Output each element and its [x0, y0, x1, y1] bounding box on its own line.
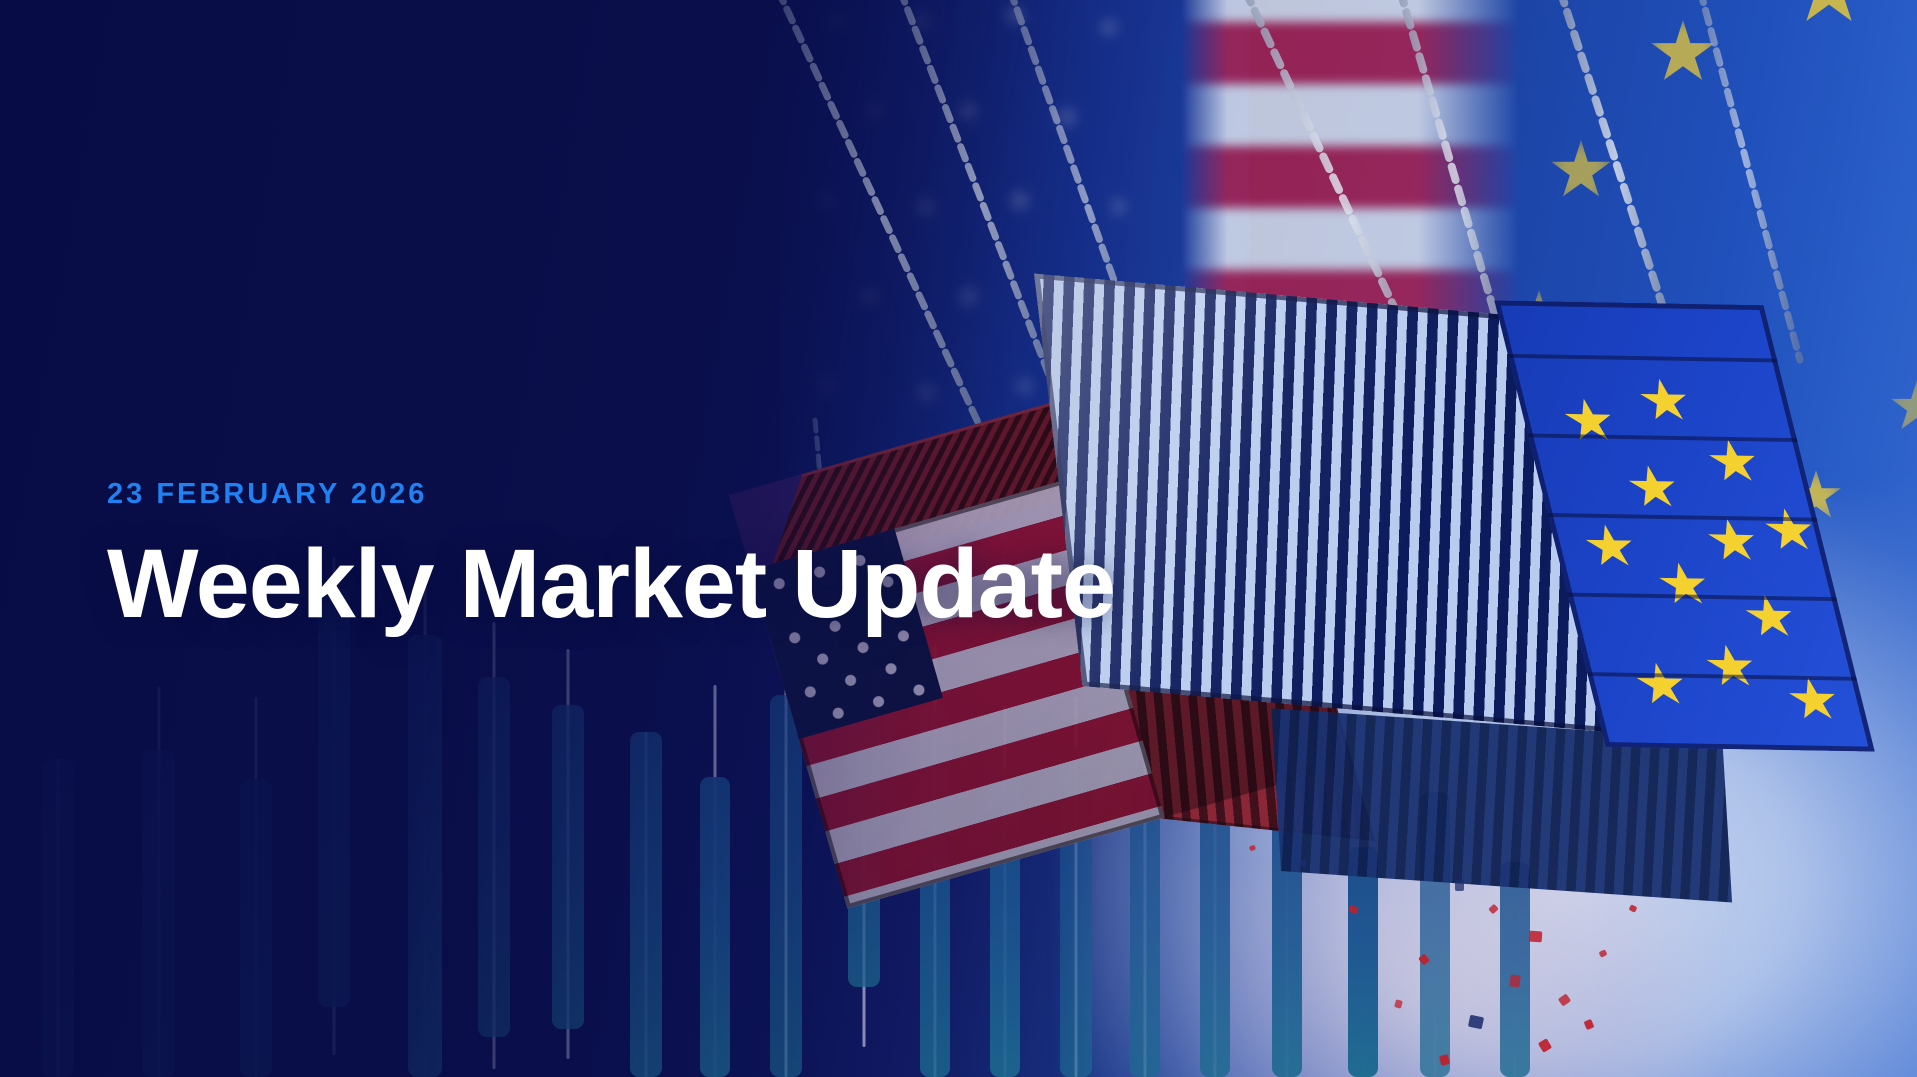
issue-date: 23 FEBRUARY 2026	[107, 480, 1115, 509]
eu-container-panel-line	[1567, 593, 1837, 602]
eu-container-star-icon	[1632, 662, 1691, 707]
eu-container-star-icon	[1581, 524, 1640, 569]
eu-container-star-icon	[1760, 508, 1819, 553]
eu-container-star-icon	[1635, 378, 1694, 423]
eu-container-panel-line	[1547, 513, 1817, 522]
debris-particle	[1468, 1015, 1484, 1030]
eu-container-panel-line	[1508, 354, 1778, 363]
eu-shipping-container	[1077, 278, 1882, 952]
debris-particle	[1455, 880, 1464, 891]
eu-container-star-icon	[1624, 465, 1683, 510]
weekly-market-update-banner: 23 FEBRUARY 2026 Weekly Market Update	[0, 0, 1917, 1077]
eu-container-star-icon	[1704, 439, 1763, 484]
eu-container-star-icon	[1654, 562, 1713, 607]
eu-container-star-icon	[1741, 595, 1800, 640]
eu-container-star-icon	[1703, 519, 1762, 564]
debris-particle	[1509, 974, 1521, 987]
page-title: Weekly Market Update	[107, 535, 1115, 632]
debris-particle	[1529, 931, 1543, 943]
headline-block: 23 FEBRUARY 2026 Weekly Market Update	[107, 480, 1115, 632]
eu-container-panel-line	[1587, 672, 1857, 681]
eu-container-panel-line	[1527, 433, 1797, 442]
eu-container-star-icon	[1702, 644, 1761, 689]
eu-container-star-icon	[1784, 678, 1843, 723]
